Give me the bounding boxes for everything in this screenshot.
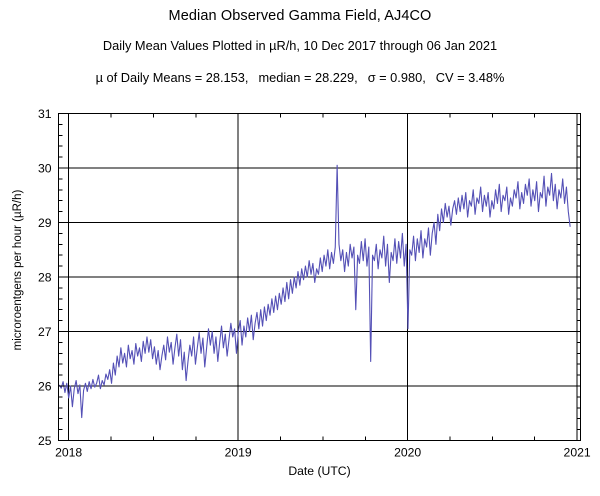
series-polyline	[59, 165, 570, 417]
y-tick-label: 25	[38, 434, 52, 448]
y-tick-label: 26	[38, 380, 52, 394]
plot-svg: 252627282930312018201920202021	[0, 0, 600, 496]
y-tick-label: 28	[38, 271, 52, 285]
data-series-line	[59, 165, 570, 417]
y-tick-label: 30	[38, 162, 52, 176]
x-tick-label: 2020	[394, 446, 421, 460]
chart-page: Median Observed Gamma Field, AJ4CO Daily…	[0, 0, 600, 496]
y-tick-label: 31	[38, 107, 52, 121]
y-tick-label: 29	[38, 216, 52, 230]
axis-tick-labels: 252627282930312018201920202021	[38, 107, 591, 460]
x-tick-label: 2019	[225, 446, 252, 460]
x-tick-label: 2018	[55, 446, 82, 460]
y-tick-label: 27	[38, 325, 52, 339]
plot-area: 252627282930312018201920202021	[0, 0, 600, 496]
gridlines	[59, 114, 581, 441]
y-axis-label: microroentgens per hour (µR/h)	[12, 100, 24, 440]
x-tick-label: 2021	[564, 446, 591, 460]
x-axis-label: Date (UTC)	[58, 464, 581, 478]
